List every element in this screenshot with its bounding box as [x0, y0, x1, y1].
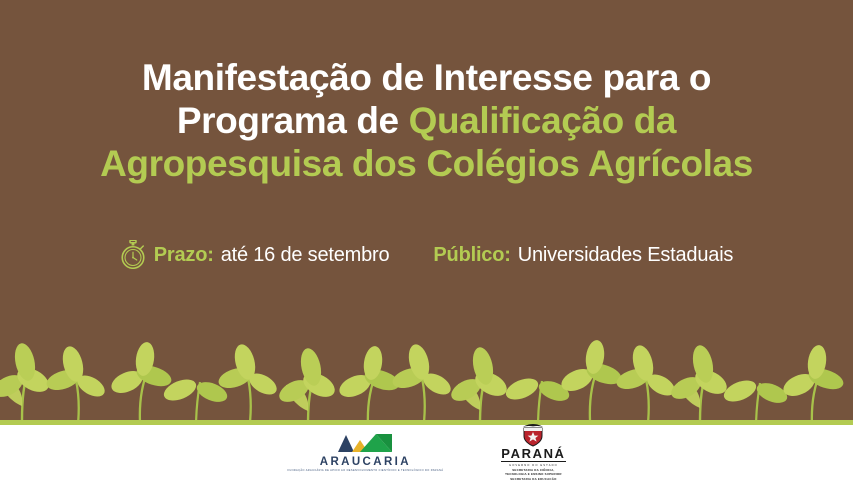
headline-line-2-plain: Programa de	[177, 100, 409, 141]
headline-line-1: Manifestação de Interesse para o	[142, 57, 711, 98]
page-title: Manifestação de Interesse para o Program…	[0, 56, 853, 185]
info-row: Prazo: até 16 de setembro Público: Unive…	[0, 240, 853, 269]
stopwatch-icon	[120, 240, 146, 269]
sprout-border-decoration	[0, 340, 853, 420]
deadline-label: Prazo:	[154, 243, 214, 267]
araucaria-mark-icon	[336, 432, 394, 454]
poster-canvas: Manifestação de Interesse para o Program…	[0, 0, 853, 480]
araucaria-wordmark: ARAUCARIA	[320, 456, 411, 468]
deadline-value: até 16 de setembro	[221, 243, 390, 267]
headline-line-2-accent: Qualificação da	[409, 100, 677, 141]
audience-value: Universidades Estaduais	[518, 243, 734, 267]
deadline-block: Prazo: até 16 de setembro	[120, 240, 390, 269]
araucaria-logo: ARAUCARIA FUNDAÇÃO ARAUCÁRIA DE APOIO AO…	[287, 432, 443, 473]
parana-government-label: GOVERNO DO ESTADO	[509, 464, 558, 467]
araucaria-tagline: FUNDAÇÃO ARAUCÁRIA DE APOIO AO DESENVOLV…	[287, 469, 443, 474]
headline-line-3-accent: Agropesquisa dos Colégios Agrícolas	[100, 143, 753, 184]
parana-logo: PARANÁ GOVERNO DO ESTADO SECRETARIA DA C…	[501, 423, 565, 480]
parana-coat-of-arms-icon	[518, 423, 548, 447]
parana-wordmark: PARANÁ	[501, 447, 565, 463]
footer-logo-bar: ARAUCARIA FUNDAÇÃO ARAUCÁRIA DE APOIO AO…	[0, 425, 853, 480]
audience-block: Público: Universidades Estaduais	[433, 243, 733, 267]
audience-label: Público:	[433, 243, 510, 267]
hero-panel: Manifestação de Interesse para o Program…	[0, 0, 853, 420]
